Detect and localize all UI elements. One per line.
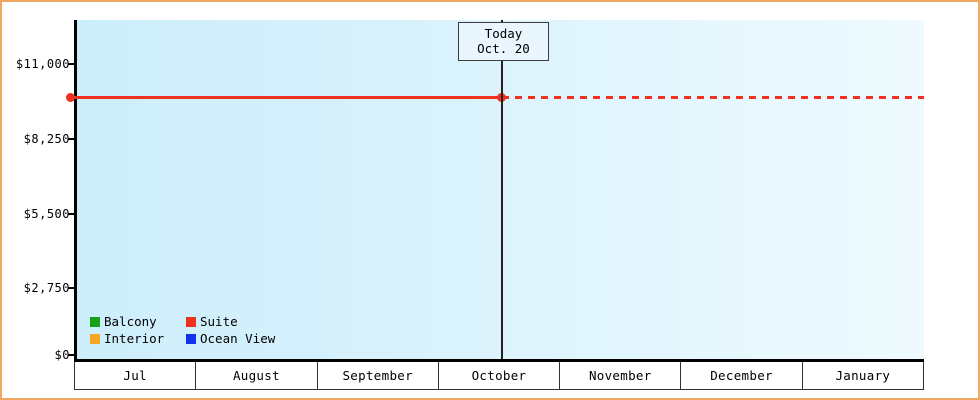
plot-area-background (76, 20, 924, 360)
y-tick-label: $8,250 (24, 132, 70, 146)
legend-label: Interior (104, 331, 164, 346)
today-label: Today (459, 26, 548, 41)
y-tick-mark (68, 63, 75, 65)
y-tick-mark (68, 138, 75, 140)
legend-item-ocean-view[interactable]: Ocean View (186, 330, 275, 347)
y-tick-label: $11,000 (16, 57, 70, 71)
today-annotation-box: Today Oct. 20 (458, 22, 549, 61)
x-axis-month-row: Jul August September October November De… (74, 362, 924, 390)
legend-swatch-icon (186, 334, 196, 344)
series-suite-point-start[interactable] (66, 93, 75, 102)
x-axis-month-august: August (196, 362, 317, 390)
legend-item-suite[interactable]: Suite (186, 313, 275, 330)
x-axis-month-september: September (318, 362, 439, 390)
chart-legend: Balcony Suite Interior Ocean View (90, 313, 275, 347)
x-axis-month-january: January (803, 362, 924, 390)
today-date: Oct. 20 (459, 41, 548, 56)
y-tick-0: $11,000 (2, 57, 70, 71)
y-tick-label: $2,750 (24, 281, 70, 295)
y-axis-line (74, 20, 77, 360)
y-tick-4: $0 (2, 348, 70, 362)
y-tick-1: $8,250 (2, 132, 70, 146)
x-axis-month-november: November (560, 362, 681, 390)
y-tick-mark (68, 213, 75, 215)
x-axis-month-october: October (439, 362, 560, 390)
legend-swatch-icon (90, 317, 100, 327)
legend-item-balcony[interactable]: Balcony (90, 313, 186, 330)
series-suite-solid-line (70, 96, 502, 99)
legend-swatch-icon (186, 317, 196, 327)
legend-label: Balcony (104, 314, 157, 329)
series-suite-dashed-line (502, 96, 924, 99)
y-tick-3: $2,750 (2, 281, 70, 295)
today-vertical-line (501, 20, 503, 360)
x-axis-month-jul: Jul (74, 362, 196, 390)
legend-label: Suite (200, 314, 238, 329)
y-tick-2: $5,500 (2, 207, 70, 221)
y-tick-mark (68, 354, 75, 356)
legend-item-interior[interactable]: Interior (90, 330, 186, 347)
y-tick-mark (68, 287, 75, 289)
x-axis-month-december: December (681, 362, 802, 390)
legend-label: Ocean View (200, 331, 275, 346)
legend-swatch-icon (90, 334, 100, 344)
y-tick-label: $5,500 (24, 207, 70, 221)
chart-frame: $11,000 $8,250 $5,500 $2,750 $0 Today Oc… (0, 0, 980, 400)
